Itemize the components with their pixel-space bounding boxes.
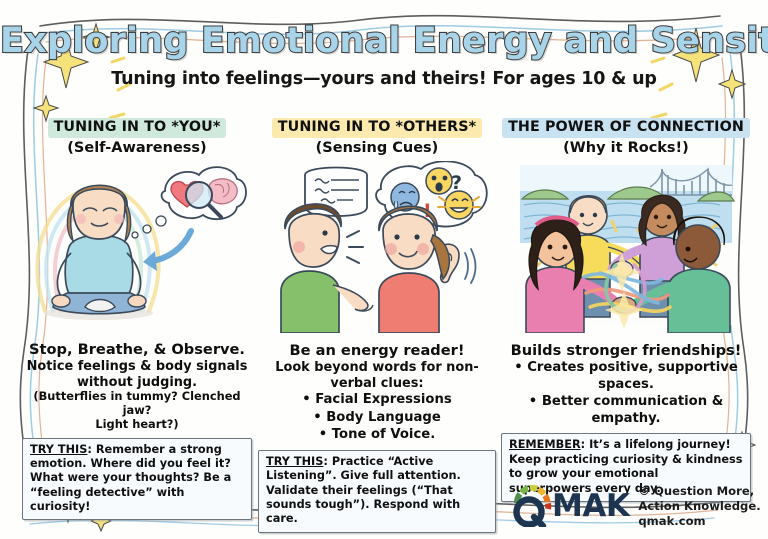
column-2-bullet-3: • Tone of Voice. [258,427,496,444]
copyright-line-1: © Question More, [638,484,760,499]
column-2-body: Be an energy reader! Look beyond words f… [258,342,496,444]
title-block: Exploring Emotional Energy and Sensitivi… [0,24,768,89]
column-2-try-this-box: TRY THIS: Practice “Active Listening”. G… [258,450,496,533]
column-1-line-2: without judging. [22,375,252,390]
column-1-tip-label: TRY THIS [30,443,87,456]
column-1-note-1: (Butterflies in tummy? Clenched jaw? [22,390,252,417]
column-1-subheading: (Self-Awareness) [48,140,227,157]
page-title: Exploring Emotional Energy and Sensitivi… [0,24,768,59]
column-3-heading-block: THE POWER OF CONNECTION (Why it Rocks!) [502,118,750,157]
column-3-lead: Builds stronger friendships! [502,342,750,360]
qmak-q-arc-logo-icon [508,485,554,527]
website-url: qmak.com [638,514,760,529]
column-2-line-1: Look beyond words for non-verbal clues: [258,360,496,391]
column-2-bullet-1: • Facial Expressions [258,392,496,409]
column-1-body: Stop, Breathe, & Observe. Notice feeling… [22,341,252,432]
illustration-two-kids-talking: ? ! [263,161,491,338]
column-2-tip-label: TRY THIS [266,455,323,468]
column-power-of-connection: THE POWER OF CONNECTION (Why it Rocks!) [502,118,750,533]
column-2-heading-block: TUNING IN TO *OTHERS* (Sensing Cues) [272,118,482,157]
column-3-bullet-1: • Creates positive, supportive spaces. [502,360,750,393]
column-2-bullet-2: • Body Language [258,410,496,427]
column-3-heading: THE POWER OF CONNECTION [502,118,750,138]
footer-branding: MAK © Question More, Action Knowledge. q… [508,484,761,528]
illustration-kids-connection [512,161,740,338]
column-1-lead: Stop, Breathe, & Observe. [22,341,252,359]
column-2-lead: Be an energy reader! [258,342,496,360]
qmak-logo: MAK [508,485,629,527]
illustration-meditating-child [23,161,251,338]
poster-canvas: Exploring Emotional Energy and Sensitivi… [0,0,768,539]
column-3-subheading: (Why it Rocks!) [502,140,750,157]
column-self-awareness: TUNING IN TO *YOU* (Self-Awareness) [22,118,252,533]
column-2-heading: TUNING IN TO *OTHERS* [272,118,482,138]
column-2-subheading: (Sensing Cues) [272,140,482,157]
column-1-note-2: Light heart?) [22,418,252,432]
column-1-line-1: Notice feelings & body signals [22,359,252,374]
copyright-block: © Question More, Action Knowledge. qmak.… [638,484,760,528]
column-3-body: Builds stronger friendships! • Creates p… [502,342,750,428]
columns-container: TUNING IN TO *YOU* (Self-Awareness) [22,118,746,533]
column-1-heading-block: TUNING IN TO *YOU* (Self-Awareness) [48,118,227,157]
column-3-bullet-2: • Better communication & empathy. [502,394,750,427]
column-3-tip-label: REMEMBER [509,438,581,451]
qmak-wordmark: MAK [552,491,629,522]
column-1-heading: TUNING IN TO *YOU* [48,118,227,138]
column-1-try-this-box: TRY THIS: Remember a strong emotion. Whe… [22,438,252,521]
page-subtitle: Tuning into feelings—yours and theirs! F… [0,69,768,89]
copyright-line-2: Action Knowledge. [638,499,760,514]
column-sensing-cues: TUNING IN TO *OTHERS* (Sensing Cues) [258,118,496,533]
svg-text:?: ? [451,172,462,194]
